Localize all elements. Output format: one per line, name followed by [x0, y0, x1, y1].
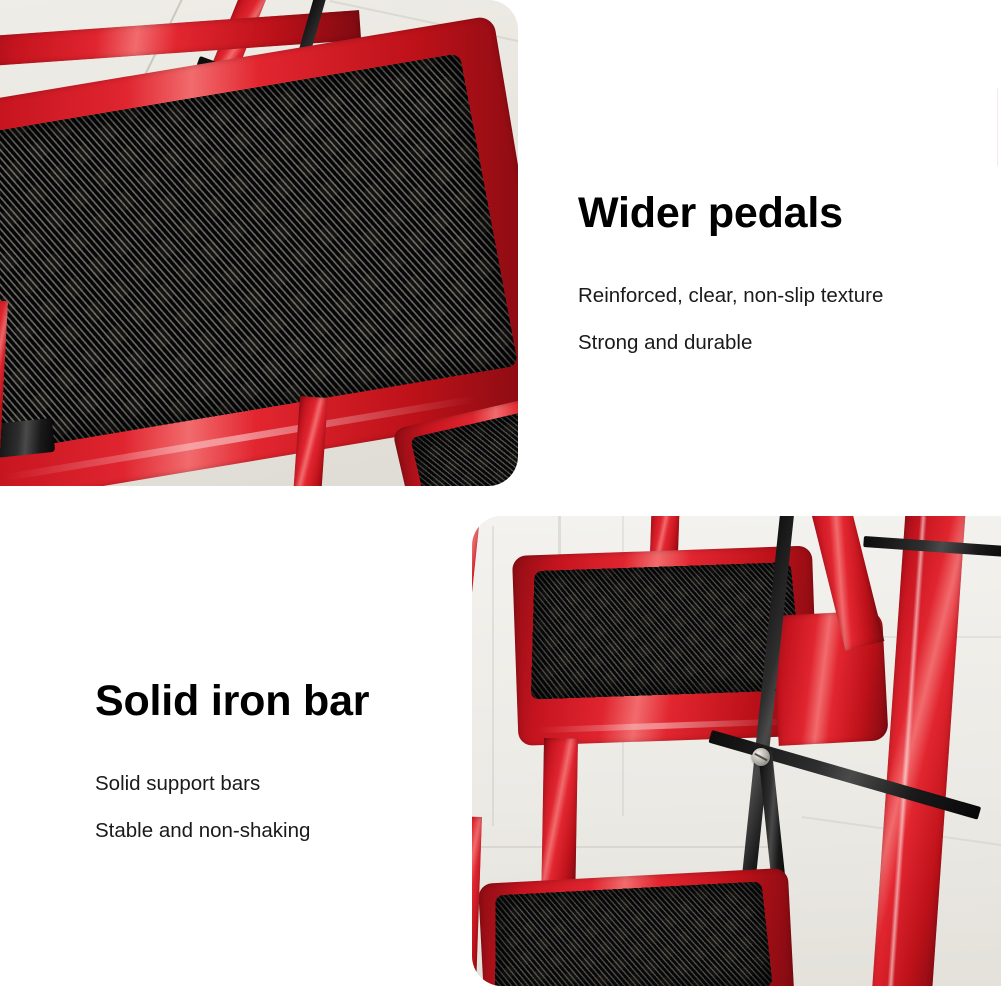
feature-line-wider-pedals-2: Strong and durable — [578, 333, 883, 354]
feature-line-solid-iron-bar-1: Solid support bars — [95, 774, 369, 795]
feature-line-wider-pedals-1: Reinforced, clear, non-slip texture — [578, 286, 883, 307]
wall-moulding — [492, 526, 494, 826]
feature-heading-solid-iron-bar: Solid iron bar — [95, 680, 369, 723]
lower-step — [478, 868, 795, 986]
product-feature-page: Wider pedals Reinforced, clear, non-slip… — [0, 0, 1001, 1001]
solid-iron-bar-photo — [472, 516, 1001, 986]
feature-line-solid-iron-bar-2: Stable and non-shaking — [95, 821, 369, 842]
feature-text-solid-iron-bar: Solid iron bar Solid support bars Stable… — [95, 680, 369, 841]
floor-seam — [472, 846, 772, 848]
ladder-leg-middle — [541, 738, 578, 899]
wider-pedals-photo-stage — [0, 0, 518, 486]
solid-iron-bar-photo-stage — [472, 516, 1001, 986]
lower-step-tread — [495, 881, 773, 986]
page-edge-hairline — [997, 88, 998, 166]
wider-pedals-photo — [0, 0, 518, 486]
feature-heading-wider-pedals: Wider pedals — [578, 192, 883, 235]
feature-text-wider-pedals: Wider pedals Reinforced, clear, non-slip… — [578, 192, 883, 353]
bolt-joint-screw — [752, 748, 770, 766]
pedal-frame — [0, 15, 518, 486]
iron-foot-bracket — [0, 418, 55, 458]
